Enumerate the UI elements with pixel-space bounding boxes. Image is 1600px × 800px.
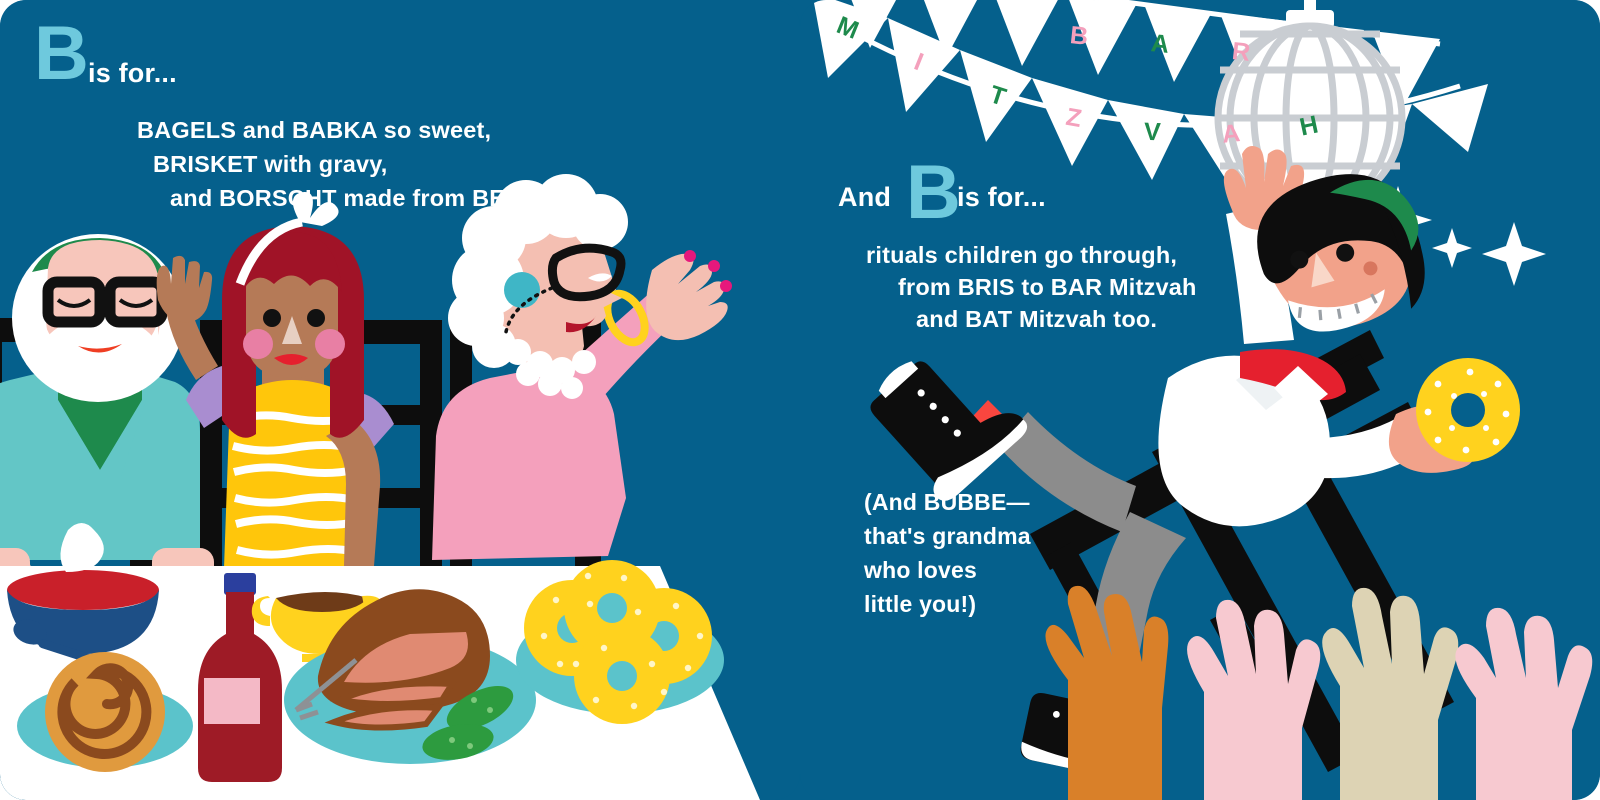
right-paren-line-2: that's grandma	[864, 519, 1031, 553]
right-heading-prefix: And	[838, 182, 891, 213]
held-bagel	[1416, 358, 1520, 462]
right-verse-line-3: and BAT Mitzvah too.	[916, 302, 1157, 336]
girl-eye-right	[307, 309, 325, 327]
right-paren-line-1: (And BUBBE—	[864, 485, 1030, 519]
right-heading-rest: is for...	[957, 182, 1046, 213]
right-page-illustration	[800, 0, 1600, 800]
book-spread: B is for... BAGELS and BABKA so sweet, B…	[0, 0, 1600, 800]
wine-label	[204, 678, 260, 724]
girl-eye-left	[263, 309, 281, 327]
right-dropcap: B	[906, 155, 961, 231]
right-paren-line-4: little you!)	[864, 587, 976, 621]
grandmother-earring	[504, 272, 540, 308]
banner-letter-b: B	[1069, 21, 1090, 52]
right-page: B A R M I T Z V A H And B is for... ritu…	[800, 0, 1600, 800]
banner-letter-a: A	[1150, 29, 1171, 60]
right-verse-line-1: rituals children go through,	[866, 238, 1177, 272]
banner-letter-v: V	[1143, 118, 1161, 148]
right-verse-line-2: from BRIS to BAR Mitzvah	[898, 270, 1197, 304]
left-heading-rest: is for...	[88, 58, 177, 89]
banner-letter-a2: A	[1221, 119, 1242, 150]
right-paren-line-3: who loves	[864, 553, 977, 587]
left-verse-line-3: and BORSCHT made from BEETS.	[170, 181, 558, 215]
left-verse-line-2: BRISKET with gravy,	[153, 147, 388, 181]
banner-letter-r: R	[1231, 37, 1252, 68]
left-page: B is for... BAGELS and BABKA so sweet, B…	[0, 0, 800, 800]
left-dropcap: B	[34, 16, 89, 92]
left-verse-line-1: BAGELS and BABKA so sweet,	[137, 113, 491, 147]
